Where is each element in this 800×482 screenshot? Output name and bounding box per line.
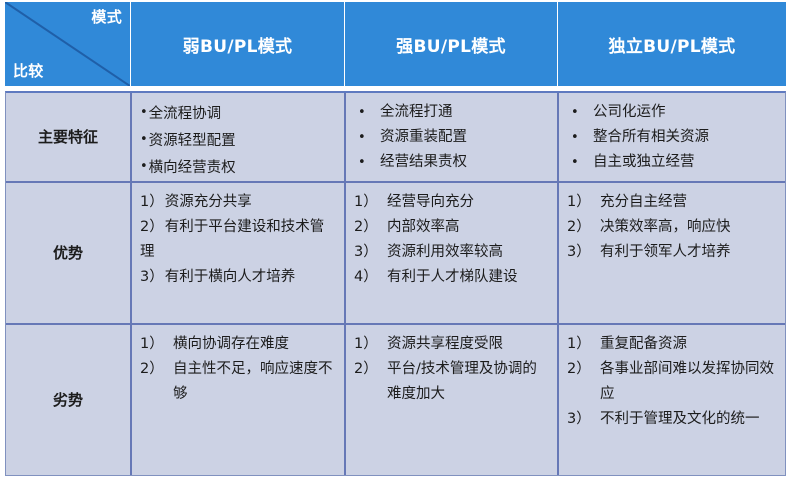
bullet-icon: • xyxy=(358,125,366,150)
list-item: 3）有利于领军人才培养 xyxy=(567,240,779,265)
list-item-text: 公司化运作 xyxy=(593,104,666,120)
list-item-marker: 4） xyxy=(354,265,387,290)
list-item: •资源轻型配置 xyxy=(140,127,338,154)
cell-disadvantages-independent: 1）重复配备资源 2）各事业部间难以发挥协同效应 3）不利于管理及文化的统一 xyxy=(559,325,785,475)
list-item: 3）资源利用效率较高 xyxy=(354,240,551,265)
header-corner-mode-label: 模式 xyxy=(91,6,122,27)
bullet-list: •公司化运作 •整合所有相关资源 •自主或独立经营 xyxy=(567,100,779,175)
header-column-independent-bupl: 独立BU/PL模式 xyxy=(558,2,786,86)
table-body: 主要特征 •全流程协调 •资源轻型配置 •横向经营责权 •全流程打通 •资源重装… xyxy=(5,91,786,476)
list-item: 1）重复配备资源 xyxy=(567,332,779,357)
row-label-disadvantages: 劣势 xyxy=(6,325,132,475)
list-item-marker: 1） xyxy=(567,190,600,215)
list-item-text: 有利于横向人才培养 xyxy=(165,269,296,285)
bullet-list: •全流程协调 •资源轻型配置 •横向经营责权 xyxy=(140,100,338,181)
bullet-icon: • xyxy=(571,125,579,150)
table-row: 优势 1）资源充分共享 2）有利于平台建设和技术管理 3）有利于横向人才培养 1… xyxy=(6,183,785,325)
bullet-icon: • xyxy=(140,132,148,147)
header-column-weak-bupl: 弱BU/PL模式 xyxy=(131,2,345,86)
list-item-text: 全流程打通 xyxy=(380,104,453,120)
bullet-icon: • xyxy=(358,100,366,125)
bullet-icon: • xyxy=(571,100,579,125)
list-item-marker: 1） xyxy=(140,194,164,210)
list-item: •经营结果责权 xyxy=(354,150,551,175)
list-item-text: 横向经营责权 xyxy=(149,160,236,176)
list-item-text: 自主性不足，响应速度不够 xyxy=(173,361,333,402)
list-item-text: 资源充分共享 xyxy=(165,194,252,210)
list-item-text: 充分自主经营 xyxy=(600,194,687,210)
list-item: •公司化运作 xyxy=(567,100,779,125)
list-item-text: 资源轻型配置 xyxy=(149,133,236,149)
list-item-text: 经营结果责权 xyxy=(380,154,467,170)
list-item-text: 各事业部间难以发挥协同效应 xyxy=(600,361,774,402)
cell-features-strong: •全流程打通 •资源重装配置 •经营结果责权 xyxy=(346,93,559,181)
cell-advantages-independent: 1）充分自主经营 2）决策效率高，响应快 3）有利于领军人才培养 xyxy=(559,183,785,323)
list-item: 4）有利于人才梯队建设 xyxy=(354,265,551,290)
list-item: 2）各事业部间难以发挥协同效应 xyxy=(567,357,779,407)
list-item-marker: 2） xyxy=(354,215,387,240)
list-item-marker: 2） xyxy=(567,215,600,240)
row-label-main-features: 主要特征 xyxy=(6,93,132,181)
list-item-text: 有利于领军人才培养 xyxy=(600,244,731,260)
numbered-list: 1）重复配备资源 2）各事业部间难以发挥协同效应 3）不利于管理及文化的统一 xyxy=(567,332,779,432)
list-item: •资源重装配置 xyxy=(354,125,551,150)
list-item-marker: 3） xyxy=(567,407,600,432)
list-item: 1）经营导向充分 xyxy=(354,190,551,215)
bullet-icon: • xyxy=(571,150,579,175)
list-item-text: 内部效率高 xyxy=(387,219,460,235)
header-corner-cell: 模式 比较 xyxy=(5,2,131,86)
list-item-marker: 2） xyxy=(354,357,387,382)
comparison-table: 模式 比较 弱BU/PL模式 强BU/PL模式 独立BU/PL模式 主要特征 •… xyxy=(5,2,786,476)
cell-disadvantages-strong: 1）资源共享程度受限 2）平台/技术管理及协调的难度加大 xyxy=(346,325,559,475)
header-corner-compare-label: 比较 xyxy=(13,60,44,81)
bullet-icon: • xyxy=(358,150,366,175)
list-item-marker: 2） xyxy=(140,357,173,382)
list-item: 3）有利于横向人才培养 xyxy=(140,265,338,290)
list-item: •整合所有相关资源 xyxy=(567,125,779,150)
list-item: 1）资源充分共享 xyxy=(140,190,338,215)
bullet-icon: • xyxy=(140,105,148,120)
list-item-text: 有利于平台建设和技术管理 xyxy=(140,219,324,260)
list-item-text: 决策效率高，响应快 xyxy=(600,219,731,235)
bullet-icon: • xyxy=(140,159,148,174)
list-item: •横向经营责权 xyxy=(140,154,338,181)
numbered-list: 1）资源充分共享 2）有利于平台建设和技术管理 3）有利于横向人才培养 xyxy=(140,190,338,290)
list-item-marker: 1） xyxy=(354,332,387,357)
header-column-strong-bupl: 强BU/PL模式 xyxy=(345,2,558,86)
cell-disadvantages-weak: 1）横向协调存在难度 2）自主性不足，响应速度不够 xyxy=(132,325,346,475)
numbered-list: 1）资源共享程度受限 2）平台/技术管理及协调的难度加大 xyxy=(354,332,551,407)
list-item-text: 资源共享程度受限 xyxy=(387,336,503,352)
list-item-text: 重复配备资源 xyxy=(600,336,687,352)
cell-features-independent: •公司化运作 •整合所有相关资源 •自主或独立经营 xyxy=(559,93,785,181)
list-item-marker: 1） xyxy=(354,190,387,215)
list-item-text: 平台/技术管理及协调的难度加大 xyxy=(387,361,537,402)
bullet-list: •全流程打通 •资源重装配置 •经营结果责权 xyxy=(354,100,551,175)
list-item: 2）平台/技术管理及协调的难度加大 xyxy=(354,357,551,407)
list-item: 2）有利于平台建设和技术管理 xyxy=(140,215,338,265)
list-item-marker: 3） xyxy=(140,269,164,285)
list-item: 1）资源共享程度受限 xyxy=(354,332,551,357)
numbered-list: 1）经营导向充分 2）内部效率高 3）资源利用效率较高 4）有利于人才梯队建设 xyxy=(354,190,551,290)
list-item: 2）内部效率高 xyxy=(354,215,551,240)
list-item: 1）充分自主经营 xyxy=(567,190,779,215)
list-item: 2）决策效率高，响应快 xyxy=(567,215,779,240)
list-item: 2）自主性不足，响应速度不够 xyxy=(140,357,338,407)
list-item-text: 资源重装配置 xyxy=(380,129,467,145)
list-item-marker: 3） xyxy=(567,240,600,265)
list-item: 3）不利于管理及文化的统一 xyxy=(567,407,779,432)
list-item: 1）横向协调存在难度 xyxy=(140,332,338,357)
list-item-marker: 1） xyxy=(140,332,173,357)
list-item-text: 经营导向充分 xyxy=(387,194,474,210)
list-item-marker: 3） xyxy=(354,240,387,265)
list-item-text: 全流程协调 xyxy=(149,106,222,122)
table-header-row: 模式 比较 弱BU/PL模式 强BU/PL模式 独立BU/PL模式 xyxy=(5,2,786,86)
row-label-advantages: 优势 xyxy=(6,183,132,323)
list-item: •全流程打通 xyxy=(354,100,551,125)
list-item-marker: 1） xyxy=(567,332,600,357)
list-item-text: 自主或独立经营 xyxy=(593,154,695,170)
cell-advantages-strong: 1）经营导向充分 2）内部效率高 3）资源利用效率较高 4）有利于人才梯队建设 xyxy=(346,183,559,323)
numbered-list: 1）充分自主经营 2）决策效率高，响应快 3）有利于领军人才培养 xyxy=(567,190,779,265)
list-item-text: 有利于人才梯队建设 xyxy=(387,269,518,285)
list-item: •自主或独立经营 xyxy=(567,150,779,175)
list-item-marker: 2） xyxy=(567,357,600,382)
numbered-list: 1）横向协调存在难度 2）自主性不足，响应速度不够 xyxy=(140,332,338,407)
cell-advantages-weak: 1）资源充分共享 2）有利于平台建设和技术管理 3）有利于横向人才培养 xyxy=(132,183,346,323)
table-row: 劣势 1）横向协调存在难度 2）自主性不足，响应速度不够 1）资源共享程度受限 … xyxy=(6,325,785,475)
list-item: •全流程协调 xyxy=(140,100,338,127)
list-item-text: 不利于管理及文化的统一 xyxy=(600,411,760,427)
list-item-text: 资源利用效率较高 xyxy=(387,244,503,260)
list-item-text: 横向协调存在难度 xyxy=(173,336,289,352)
cell-features-weak: •全流程协调 •资源轻型配置 •横向经营责权 xyxy=(132,93,346,181)
list-item-marker: 2） xyxy=(140,219,164,235)
list-item-text: 整合所有相关资源 xyxy=(593,129,709,145)
table-row: 主要特征 •全流程协调 •资源轻型配置 •横向经营责权 •全流程打通 •资源重装… xyxy=(6,93,785,183)
